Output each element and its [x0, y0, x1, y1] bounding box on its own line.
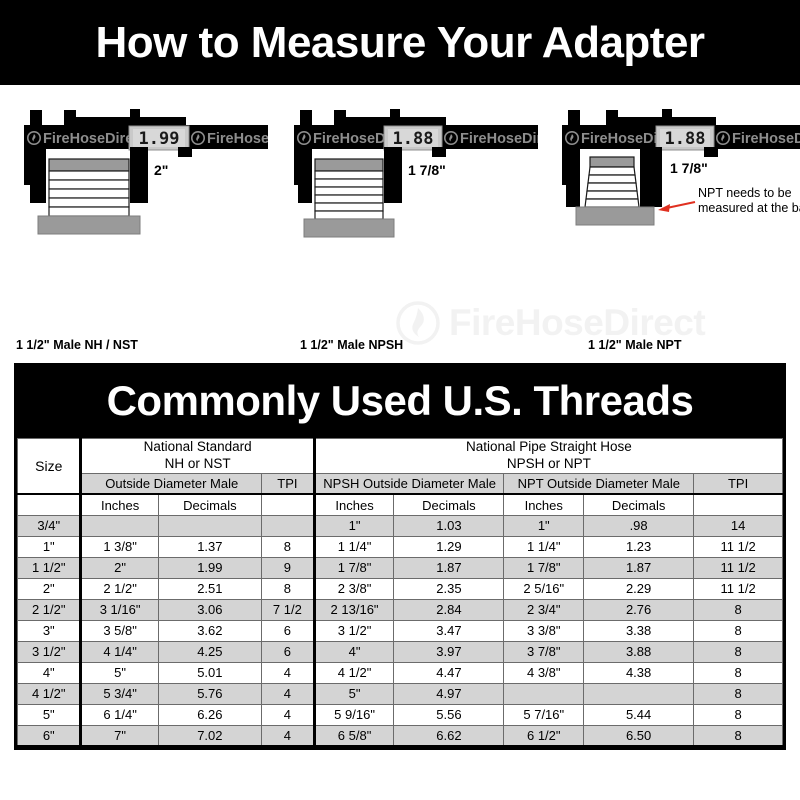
- table-row: 1 1/2"2"1.9991 7/8"1.871 7/8"1.8711 1/2: [18, 557, 783, 578]
- cell-npt-decimals: 2.29: [584, 578, 694, 599]
- cell-nh-decimals: 1.99: [158, 557, 261, 578]
- threads-title: Commonly Used U.S. Threads: [107, 377, 694, 425]
- caliper-illustration-npt: FireHoseDirect 1.88 FireHoseDirect: [540, 85, 800, 335]
- col-header-blank-tpi-1: [262, 494, 315, 515]
- cell-npt-inches: [504, 683, 584, 704]
- cell-npt-inches: 2 3/4": [504, 599, 584, 620]
- cell-npsh-inches: 5": [314, 683, 394, 704]
- cell-npsh-inches: 2 13/16": [314, 599, 394, 620]
- cell-npt-tpi: 8: [694, 704, 783, 725]
- cell-npt-inches: 2 5/16": [504, 578, 584, 599]
- cell-npt-tpi: 8: [694, 683, 783, 704]
- col-header-npt-od-male: NPT Outside Diameter Male: [504, 473, 694, 494]
- cell-nh-decimals: 3.62: [158, 620, 261, 641]
- cell-npt-decimals: 1.87: [584, 557, 694, 578]
- cell-npt-inches: 1 7/8": [504, 557, 584, 578]
- group-npsh-line1: National Pipe Straight Hose: [316, 439, 782, 456]
- cell-nh-inches: 3 5/8": [81, 620, 158, 641]
- table-header-subsub-row: Inches Decimals Inches Decimals Inches D…: [18, 494, 783, 515]
- cell-nh-tpi: 7 1/2: [262, 599, 315, 620]
- cell-nh-decimals: 1.37: [158, 536, 261, 557]
- col-header-group-nh: National Standard NH or NST: [81, 439, 314, 474]
- cell-npsh-inches: 4": [314, 641, 394, 662]
- table-header-sub-row: Outside Diameter Male TPI NPSH Outside D…: [18, 473, 783, 494]
- cell-npt-inches: 1": [504, 515, 584, 536]
- diagram-nh-nst: FireHoseDirect 1.99 FireHoseDirect: [2, 85, 268, 360]
- cell-size: 1 1/2": [18, 557, 81, 578]
- cell-nh-inches: 6 1/4": [81, 704, 158, 725]
- cell-npt-tpi: 11 1/2: [694, 536, 783, 557]
- cell-npsh-decimals: 5.56: [394, 704, 504, 725]
- col-header-group-npsh: National Pipe Straight Hose NPSH or NPT: [314, 439, 782, 474]
- group-npsh-line2: NPSH or NPT: [316, 456, 782, 473]
- cell-nh-inches: [81, 515, 158, 536]
- cell-npt-decimals: 3.38: [584, 620, 694, 641]
- cell-npt-tpi: 8: [694, 725, 783, 746]
- cell-nh-decimals: 5.01: [158, 662, 261, 683]
- col-header-blank-tpi-2: [694, 494, 783, 515]
- col-header-npsh-od-male: NPSH Outside Diameter Male: [314, 473, 504, 494]
- diagram-caption-npt: 1 1/2" Male NPT: [588, 338, 681, 352]
- cell-npsh-inches: 1 1/4": [314, 536, 394, 557]
- cell-nh-tpi: 4: [262, 704, 315, 725]
- col-header-inches-1: Inches: [81, 494, 158, 515]
- cell-size: 4": [18, 662, 81, 683]
- threads-table: Size National Standard NH or NST Nationa…: [17, 438, 783, 747]
- cell-npsh-decimals: 4.47: [394, 662, 504, 683]
- threads-banner-wrap: Commonly Used U.S. Threads: [14, 363, 786, 438]
- table-row: 1"1 3/8"1.3781 1/4"1.291 1/4"1.2311 1/2: [18, 536, 783, 557]
- npt-note-line2: measured at the base: [698, 201, 800, 215]
- cell-nh-tpi: 8: [262, 536, 315, 557]
- cell-nh-tpi: [262, 515, 315, 536]
- page-title-banner: How to Measure Your Adapter: [0, 0, 800, 85]
- cell-size: 2 1/2": [18, 599, 81, 620]
- fitting-threads-straight: [38, 159, 140, 234]
- npt-base-arrow-icon: [658, 202, 695, 212]
- cell-npt-inches: 3 3/8": [504, 620, 584, 641]
- cell-nh-inches: 2 1/2": [81, 578, 158, 599]
- cell-npt-inches: 1 1/4": [504, 536, 584, 557]
- watermark-text-right: FireHoseDirect: [460, 131, 538, 147]
- cell-npt-decimals: 5.44: [584, 704, 694, 725]
- cell-nh-inches: 2": [81, 557, 158, 578]
- cell-npsh-decimals: 1.03: [394, 515, 504, 536]
- cell-npt-tpi: 8: [694, 662, 783, 683]
- cell-npt-tpi: 11 1/2: [694, 557, 783, 578]
- caliper-diagram-strip: FireHoseDirect 1.99 FireHoseDirect: [0, 85, 800, 360]
- cell-npsh-inches: 1 7/8": [314, 557, 394, 578]
- diagram-npsh: FireHoseDirect 1.88 FireHoseDirect: [272, 85, 538, 360]
- cell-npt-inches: 5 7/16": [504, 704, 584, 725]
- col-header-inches-2: Inches: [314, 494, 394, 515]
- diagram-npt: FireHoseDirect 1.88 FireHoseDirect: [540, 85, 800, 360]
- diagram-caption-nh-nst: 1 1/2" Male NH / NST: [16, 338, 138, 352]
- cell-size: 3 1/2": [18, 641, 81, 662]
- cell-nh-inches: 5 3/4": [81, 683, 158, 704]
- cell-nh-tpi: 6: [262, 641, 315, 662]
- cell-nh-decimals: 2.51: [158, 578, 261, 599]
- cell-nh-inches: 3 1/16": [81, 599, 158, 620]
- col-header-od-male: Outside Diameter Male: [81, 473, 262, 494]
- group-nh-line2: NH or NST: [82, 456, 312, 473]
- cell-size: 5": [18, 704, 81, 725]
- table-row: 2"2 1/2"2.5182 3/8"2.352 5/16"2.2911 1/2: [18, 578, 783, 599]
- cell-npt-decimals: 4.38: [584, 662, 694, 683]
- cell-nh-decimals: 3.06: [158, 599, 261, 620]
- cell-npt-inches: 4 3/8": [504, 662, 584, 683]
- cell-npt-decimals: .98: [584, 515, 694, 536]
- cell-npsh-inches: 5 9/16": [314, 704, 394, 725]
- caliper-illustration-npsh: FireHoseDirect 1.88 FireHoseDirect: [272, 85, 538, 335]
- cell-nh-inches: 4 1/4": [81, 641, 158, 662]
- table-row: 3/4"1"1.031".9814: [18, 515, 783, 536]
- cell-nh-decimals: 4.25: [158, 641, 261, 662]
- cell-size: 4 1/2": [18, 683, 81, 704]
- watermark-text-right: FireHoseDirect: [207, 131, 268, 147]
- cell-npsh-decimals: 1.87: [394, 557, 504, 578]
- measure-label: 1 7/8": [670, 160, 708, 176]
- cell-size: 1": [18, 536, 81, 557]
- cell-npsh-inches: 1": [314, 515, 394, 536]
- cell-npt-decimals: [584, 683, 694, 704]
- cell-npt-tpi: 8: [694, 599, 783, 620]
- cell-nh-decimals: 7.02: [158, 725, 261, 746]
- cell-npsh-decimals: 3.97: [394, 641, 504, 662]
- cell-npsh-decimals: 1.29: [394, 536, 504, 557]
- table-row: 6"7"7.0246 5/8"6.626 1/2"6.508: [18, 725, 783, 746]
- cell-nh-tpi: 9: [262, 557, 315, 578]
- caliper-illustration-nh-nst: FireHoseDirect 1.99 FireHoseDirect: [2, 85, 268, 335]
- cell-npsh-inches: 2 3/8": [314, 578, 394, 599]
- threads-table-wrap: Size National Standard NH or NST Nationa…: [14, 438, 786, 750]
- cell-nh-tpi: 6: [262, 620, 315, 641]
- cell-npt-inches: 3 7/8": [504, 641, 584, 662]
- page-root: How to Measure Your Adapter: [0, 0, 800, 800]
- col-header-decimals-3: Decimals: [584, 494, 694, 515]
- table-header-group-row: Size National Standard NH or NST Nationa…: [18, 439, 783, 474]
- caliper-display-value: 1.88: [393, 129, 434, 149]
- cell-nh-tpi: 4: [262, 662, 315, 683]
- cell-nh-inches: 1 3/8": [81, 536, 158, 557]
- cell-size: 3/4": [18, 515, 81, 536]
- cell-npt-decimals: 6.50: [584, 725, 694, 746]
- group-nh-line1: National Standard: [82, 439, 312, 456]
- cell-nh-tpi: 8: [262, 578, 315, 599]
- col-header-inches-3: Inches: [504, 494, 584, 515]
- cell-npt-tpi: 14: [694, 515, 783, 536]
- cell-npsh-decimals: 3.47: [394, 620, 504, 641]
- table-row: 4 1/2"5 3/4"5.7645"4.978: [18, 683, 783, 704]
- col-header-tpi-2: TPI: [694, 473, 783, 494]
- cell-npt-tpi: 11 1/2: [694, 578, 783, 599]
- cell-nh-inches: 7": [81, 725, 158, 746]
- cell-size: 3": [18, 620, 81, 641]
- cell-npsh-inches: 3 1/2": [314, 620, 394, 641]
- fitting-threads-straight: [304, 159, 394, 237]
- table-row: 4"5"5.0144 1/2"4.474 3/8"4.388: [18, 662, 783, 683]
- watermark-text-right: FireHoseDirect: [732, 131, 800, 147]
- diagram-caption-npsh: 1 1/2" Male NPSH: [300, 338, 403, 352]
- caliper-display-value: 1.88: [665, 129, 706, 149]
- cell-npt-tpi: 8: [694, 620, 783, 641]
- table-row: 3"3 5/8"3.6263 1/2"3.473 3/8"3.388: [18, 620, 783, 641]
- cell-npt-decimals: 1.23: [584, 536, 694, 557]
- table-row: 5"6 1/4"6.2645 9/16"5.565 7/16"5.448: [18, 704, 783, 725]
- col-header-blank: [18, 494, 81, 515]
- cell-npsh-decimals: 4.97: [394, 683, 504, 704]
- col-header-tpi-1: TPI: [262, 473, 315, 494]
- npt-note-line1: NPT needs to be: [698, 186, 792, 200]
- cell-npsh-decimals: 2.35: [394, 578, 504, 599]
- table-body: 3/4"1"1.031".98141"1 3/8"1.3781 1/4"1.29…: [18, 515, 783, 746]
- page-title: How to Measure Your Adapter: [95, 18, 704, 68]
- cell-npsh-inches: 6 5/8": [314, 725, 394, 746]
- cell-nh-inches: 5": [81, 662, 158, 683]
- cell-size: 2": [18, 578, 81, 599]
- cell-npsh-decimals: 6.62: [394, 725, 504, 746]
- measure-label: 2": [154, 162, 168, 178]
- cell-npt-inches: 6 1/2": [504, 725, 584, 746]
- cell-nh-decimals: [158, 515, 261, 536]
- threads-banner: Commonly Used U.S. Threads: [16, 365, 784, 436]
- cell-nh-tpi: 4: [262, 683, 315, 704]
- col-header-decimals-1: Decimals: [158, 494, 261, 515]
- cell-nh-decimals: 6.26: [158, 704, 261, 725]
- cell-npt-decimals: 2.76: [584, 599, 694, 620]
- cell-npsh-inches: 4 1/2": [314, 662, 394, 683]
- cell-nh-decimals: 5.76: [158, 683, 261, 704]
- cell-nh-tpi: 4: [262, 725, 315, 746]
- cell-size: 6": [18, 725, 81, 746]
- cell-npt-tpi: 8: [694, 641, 783, 662]
- cell-npsh-decimals: 2.84: [394, 599, 504, 620]
- cell-npt-decimals: 3.88: [584, 641, 694, 662]
- table-row: 2 1/2"3 1/16"3.067 1/22 13/16"2.842 3/4"…: [18, 599, 783, 620]
- col-header-decimals-2: Decimals: [394, 494, 504, 515]
- caliper-display-value: 1.99: [139, 129, 180, 149]
- table-row: 3 1/2"4 1/4"4.2564"3.973 7/8"3.888: [18, 641, 783, 662]
- measure-label: 1 7/8": [408, 162, 446, 178]
- col-header-size: Size: [18, 439, 81, 495]
